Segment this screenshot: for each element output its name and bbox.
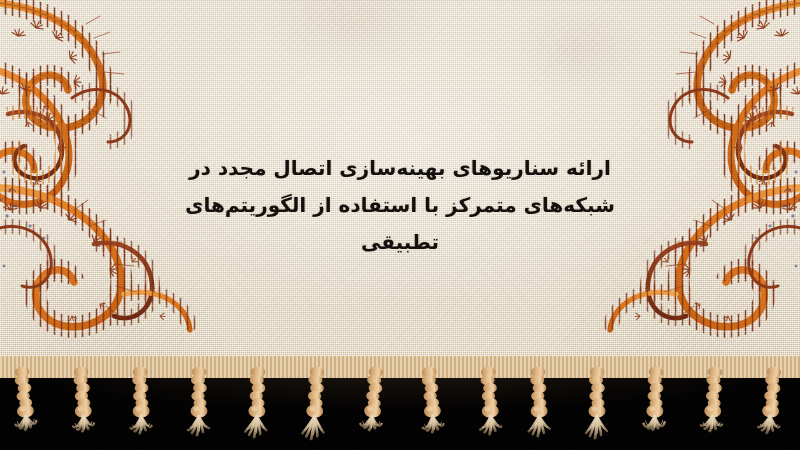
- tassel: [521, 366, 557, 447]
- tassel: [4, 365, 45, 448]
- tassel: [182, 366, 216, 446]
- fabric-selvedge-edge: [0, 356, 800, 378]
- title-line-3: تطبیقی: [165, 224, 635, 261]
- title-line-1: ارائه سناریوهای بهینه‌سازی اتصال مجدد در: [165, 150, 635, 187]
- tassel: [63, 365, 101, 447]
- tassel: [123, 366, 159, 447]
- tassel: [580, 366, 614, 446]
- tassel: [751, 365, 792, 448]
- title-line-2: شبکه‌های متمرکز با استفاده از الگوریتم‌ه…: [165, 187, 635, 224]
- tassel: [411, 365, 452, 448]
- page-title: ارائه سناریوهای بهینه‌سازی اتصال مجدد در…: [165, 150, 635, 261]
- tassel: [470, 365, 508, 447]
- tassel-fringe: [0, 356, 800, 450]
- tassel: [239, 366, 275, 447]
- tassel: [637, 366, 673, 447]
- title-card: ارائه سناریوهای بهینه‌سازی اتصال مجدد در…: [0, 0, 800, 450]
- tassel: [694, 365, 732, 447]
- tassel: [296, 365, 334, 447]
- tassel: [353, 365, 394, 448]
